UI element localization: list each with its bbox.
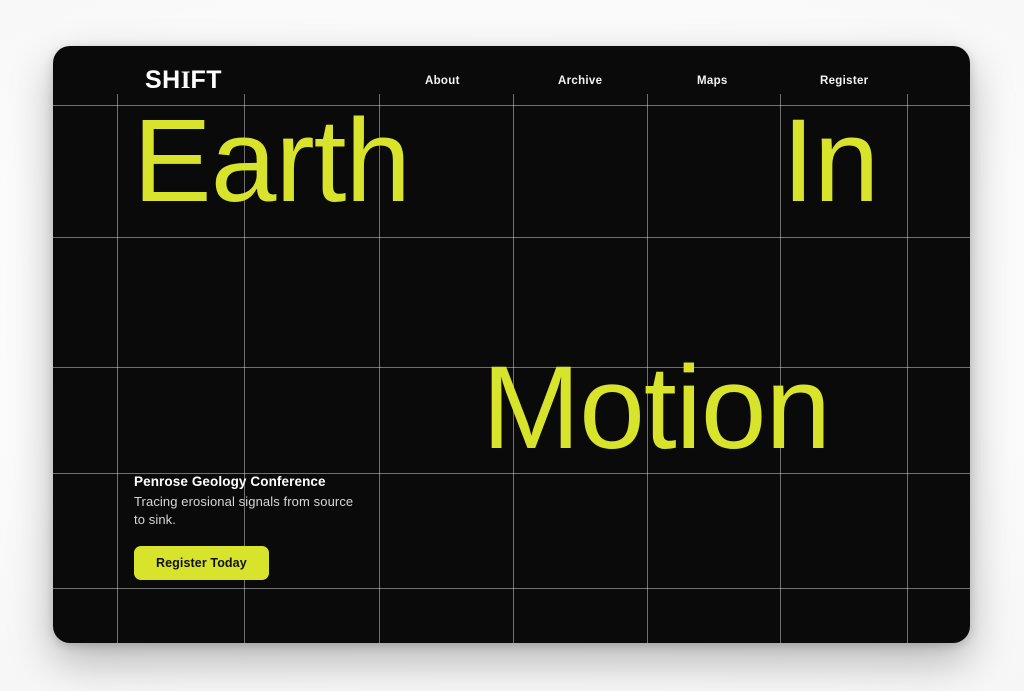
- register-today-button[interactable]: Register Today: [134, 546, 269, 580]
- nav-item-archive[interactable]: Archive: [558, 75, 602, 87]
- headline-word-in: In: [782, 102, 878, 220]
- headline-word-motion: Motion: [482, 349, 830, 467]
- headline-word-earth: Earth: [133, 102, 410, 220]
- conference-info-card: Penrose Geology Conference Tracing erosi…: [134, 474, 364, 580]
- grid-line-vertical-6: [907, 94, 908, 643]
- logo-text-after: FT: [190, 66, 222, 94]
- logo-text-before: SH: [145, 66, 181, 94]
- nav-item-about[interactable]: About: [425, 75, 460, 87]
- nav-item-maps[interactable]: Maps: [697, 75, 728, 87]
- grid-line-horizontal-1: [53, 237, 970, 238]
- conference-subtitle: Tracing erosional signals from source to…: [134, 493, 364, 529]
- logo-text-stem: I: [181, 67, 191, 94]
- top-navigation-bar: SHIFT AboutArchiveMapsRegister: [53, 46, 970, 105]
- grid-line-horizontal-4: [53, 588, 970, 589]
- grid-line-vertical-0: [117, 94, 118, 643]
- hero-panel: SHIFT AboutArchiveMapsRegister Earth In …: [53, 46, 970, 643]
- brand-logo[interactable]: SHIFT: [145, 66, 222, 95]
- conference-title: Penrose Geology Conference: [134, 474, 364, 489]
- nav-item-register[interactable]: Register: [820, 75, 868, 87]
